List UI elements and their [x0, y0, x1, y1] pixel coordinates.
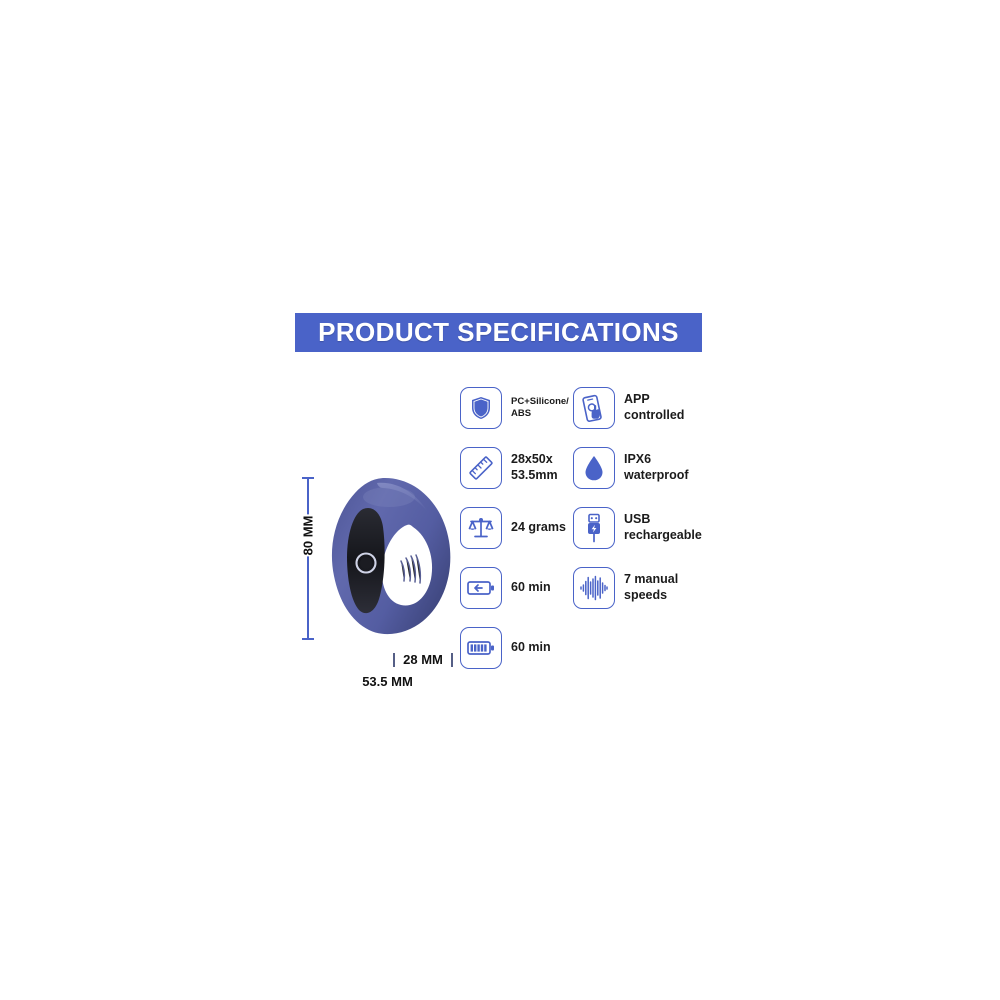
page-title: PRODUCT SPECIFICATIONS — [318, 317, 679, 348]
spec-item: 24 grams — [460, 498, 569, 558]
spec-label: 60 min — [511, 580, 551, 596]
water-drop-icon — [573, 447, 615, 489]
usb-plug-icon — [573, 507, 615, 549]
infographic-canvas: PRODUCT SPECIFICATIONS — [0, 0, 1000, 1000]
spec-column-left: PC+Silicone/ ABS — [460, 378, 569, 678]
spec-item: 60 min — [460, 558, 569, 618]
ruler-icon — [460, 447, 502, 489]
spec-item: 60 min — [460, 618, 569, 678]
battery-charging-icon — [460, 567, 502, 609]
balance-scale-icon — [460, 507, 502, 549]
spec-label: 24 grams — [511, 520, 566, 536]
waveform-icon — [573, 567, 615, 609]
phone-touch-icon — [573, 387, 615, 429]
spec-label: 7 manual speeds — [624, 572, 678, 603]
spec-item: IPX6 waterproof — [573, 438, 702, 498]
product-image-block: 80 MM 28 MM 53.5 MM — [285, 455, 465, 700]
spec-label: IPX6 waterproof — [624, 452, 689, 483]
shield-icon — [460, 387, 502, 429]
spec-label: APP controlled — [624, 392, 684, 423]
product-photo — [325, 475, 455, 640]
dimension-line-depth: 28 MM — [393, 653, 453, 667]
dimension-line-width: 53.5 MM — [320, 677, 455, 689]
product-ring-illustration — [325, 475, 455, 640]
spec-label: 60 min — [511, 640, 551, 656]
page-title-banner: PRODUCT SPECIFICATIONS — [295, 313, 702, 352]
spec-label: PC+Silicone/ ABS — [511, 396, 569, 420]
battery-full-icon — [460, 627, 502, 669]
spec-label: 28x50x 53.5mm — [511, 452, 558, 483]
spec-item: APP controlled — [573, 378, 702, 438]
dimension-line-height — [307, 477, 309, 640]
spec-item: USB rechargeable — [573, 498, 702, 558]
spec-item: PC+Silicone/ ABS — [460, 378, 569, 438]
dimension-label-depth: 28 MM — [393, 652, 453, 667]
spec-item: 28x50x 53.5mm — [460, 438, 569, 498]
spec-label: USB rechargeable — [624, 512, 702, 543]
dimension-label-height: 80 MM — [297, 515, 318, 557]
spec-item: 7 manual speeds — [573, 558, 702, 618]
dimension-label-width: 53.5 MM — [320, 674, 455, 689]
spec-column-right: APP controlled IPX6 waterproof — [573, 378, 702, 618]
